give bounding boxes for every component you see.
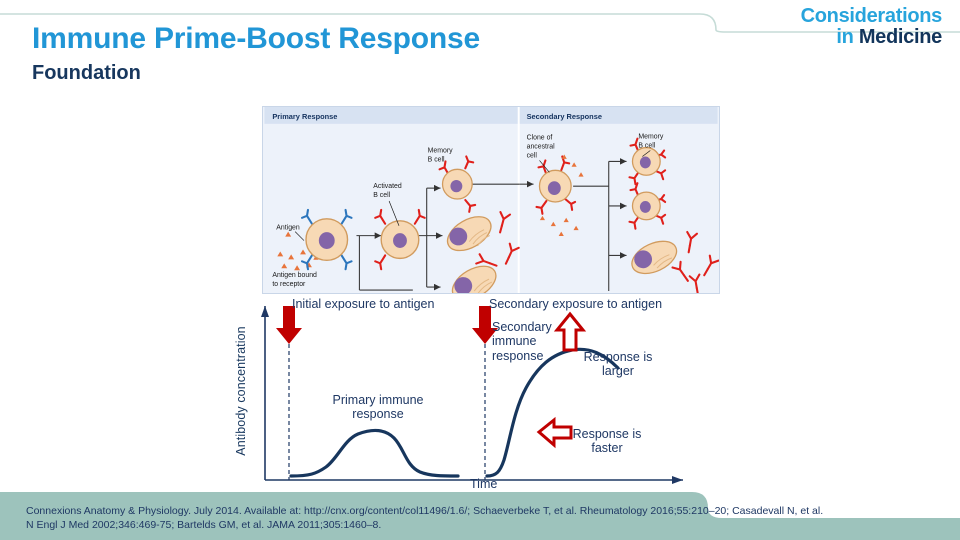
initial-exposure-arrow-icon [276, 306, 302, 344]
page-title: Immune Prime-Boost Response [32, 22, 480, 56]
brand-word-medicine: Medicine [859, 26, 942, 48]
annotation-response-faster-line2: faster [562, 441, 652, 455]
annotation-primary-immune-line2: response [318, 407, 438, 421]
b-cell-resting [302, 210, 351, 269]
immune-response-figure: Primary Response Secondary Response [262, 106, 720, 294]
figure-label-clone-2: ancestral [527, 144, 555, 151]
annotation-secondary-exposure: Secondary exposure to antigen [489, 297, 662, 311]
annotation-response-larger: Response is larger [572, 350, 664, 379]
annotation-secondary-immune-line1: Secondary [492, 320, 562, 334]
figure-label-memory-b-cell-secondary-2: B cell [638, 143, 655, 150]
figure-label-memory-b-cell-primary-1: Memory [428, 148, 453, 155]
page-subtitle: Foundation [32, 62, 141, 85]
annotation-response-larger-line2: larger [572, 364, 664, 378]
slide: Considerations in Medicine Immune Prime-… [0, 0, 960, 540]
annotation-initial-exposure: Initial exposure to antigen [292, 297, 434, 311]
antibody-response-plot [234, 292, 708, 494]
annotation-secondary-immune-line2: immune [492, 334, 562, 348]
brand-line-in-medicine: in Medicine [801, 27, 942, 48]
y-axis-arrowhead [261, 306, 269, 317]
figure-label-memory-b-cell-primary-2: B cell [428, 156, 445, 163]
annotation-response-faster-line1: Response is [562, 427, 652, 441]
antibody-response-chart [234, 292, 708, 494]
annotation-response-faster: Response is faster [562, 427, 652, 456]
annotation-secondary-immune-response: Secondary immune response [492, 320, 562, 363]
immune-response-illustration: Primary Response Secondary Response [263, 107, 719, 293]
figure-label-clone-3: cell [527, 152, 538, 159]
figure-label-antigen-bound-1: Antigen bound [272, 272, 317, 279]
brand-word-in: in [836, 26, 858, 48]
annotation-primary-immune-response: Primary immune response [318, 393, 438, 422]
brand-logo: Considerations in Medicine [801, 6, 942, 48]
brand-line-considerations: Considerations [801, 6, 942, 27]
figure-panel-title-primary: Primary Response [272, 112, 337, 121]
figure-label-antigen: Antigen [276, 225, 300, 232]
figure-label-memory-b-cell-secondary-1: Memory [638, 134, 663, 141]
figure-label-clone-1: Clone of [527, 135, 553, 142]
y-axis-label: Antibody concentration [234, 290, 254, 492]
figure-panel-title-secondary: Secondary Response [527, 112, 602, 121]
annotation-primary-immune-line1: Primary immune [318, 393, 438, 407]
annotation-response-larger-line1: Response is [572, 350, 664, 364]
primary-response-curve [291, 431, 458, 476]
figure-label-activated-b-cell-2: B cell [373, 192, 390, 199]
annotation-secondary-immune-line3: response [492, 349, 562, 363]
footer-references: Connexions Anatomy & Physiology. July 20… [26, 504, 826, 532]
x-axis-arrowhead [672, 476, 683, 484]
figure-label-activated-b-cell-1: Activated [373, 183, 402, 190]
figure-label-antigen-bound-2: to receptor [272, 281, 306, 288]
